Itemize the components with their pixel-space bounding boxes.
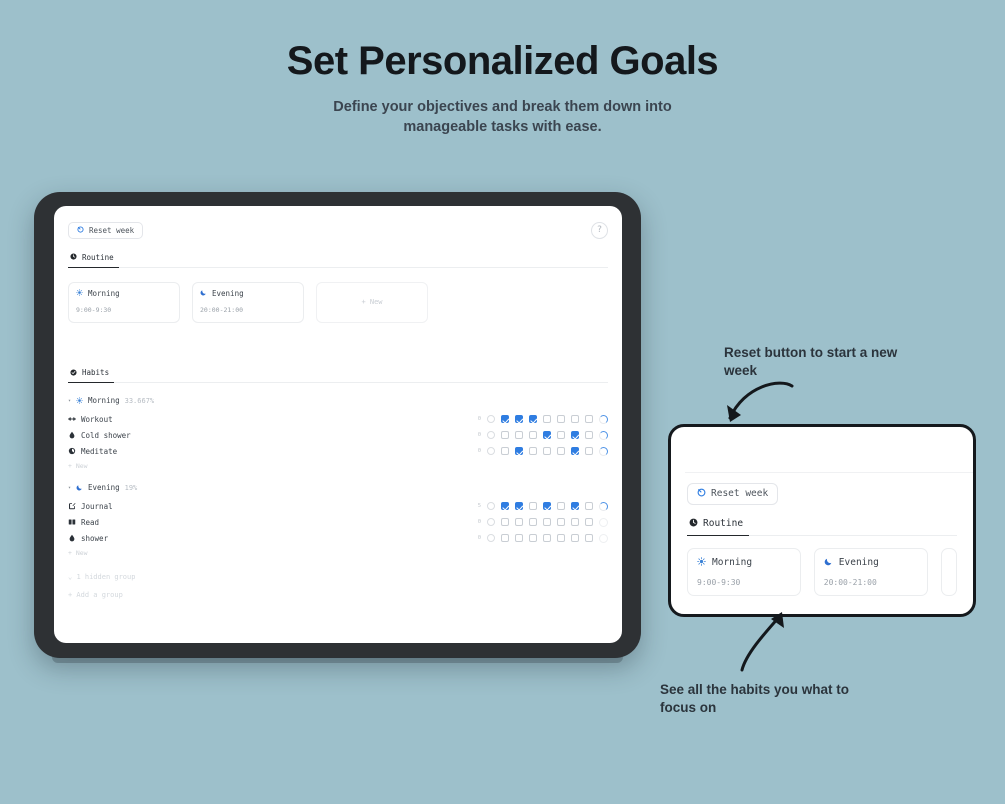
day-checkbox[interactable] bbox=[515, 431, 523, 439]
app-screen: ? Reset week bbox=[54, 206, 622, 643]
habit-progress-ring bbox=[599, 518, 608, 527]
add-habit-evening[interactable]: + New bbox=[68, 549, 608, 557]
day-checkbox[interactable] bbox=[515, 534, 523, 542]
callout-routine-card-morning[interactable]: Morning 9:00-9:30 bbox=[687, 548, 801, 596]
reset-circle-icon bbox=[77, 226, 84, 235]
moon-icon bbox=[76, 484, 83, 493]
sun-icon bbox=[76, 289, 83, 298]
habit-count: 0 bbox=[476, 535, 481, 541]
day-checkbox[interactable] bbox=[557, 518, 565, 526]
habit-name: Read bbox=[81, 518, 99, 527]
habit-week-grid: 0 bbox=[476, 447, 608, 456]
day-checkbox[interactable] bbox=[585, 415, 593, 423]
day-checkbox[interactable] bbox=[557, 415, 565, 423]
day-checkbox[interactable] bbox=[515, 447, 523, 455]
table-row[interactable]: Read 0 bbox=[68, 514, 608, 530]
table-row[interactable]: Workout 0 bbox=[68, 411, 608, 427]
habit-group-evening-percent: 19% bbox=[125, 484, 138, 492]
add-routine-card[interactable]: + New bbox=[316, 282, 428, 323]
habit-target-circle[interactable] bbox=[487, 518, 495, 526]
day-checkbox[interactable] bbox=[585, 502, 593, 510]
chevron-down-icon[interactable]: ▾ bbox=[68, 485, 71, 491]
habit-target-circle[interactable] bbox=[487, 534, 495, 542]
day-checkbox[interactable] bbox=[585, 431, 593, 439]
callout-routine-card-partial[interactable] bbox=[941, 548, 957, 596]
day-checkbox[interactable] bbox=[529, 415, 537, 423]
callout-routine-cards: Morning 9:00-9:30 Evening 20:00-21:00 bbox=[687, 548, 957, 596]
day-checkbox[interactable] bbox=[529, 518, 537, 526]
day-checkbox[interactable] bbox=[571, 534, 579, 542]
habit-target-circle[interactable] bbox=[487, 431, 495, 439]
habit-group-morning-header[interactable]: ▾ Morning 33.667% bbox=[68, 396, 608, 405]
habit-count: 0 bbox=[476, 432, 481, 438]
moon-icon bbox=[200, 289, 207, 298]
habit-progress-ring bbox=[599, 447, 608, 456]
tab-routine-label: Routine bbox=[82, 253, 114, 262]
pencil-square-icon bbox=[68, 502, 76, 512]
annotation-reset: Reset button to start a new week bbox=[724, 344, 924, 380]
habit-count: 0 bbox=[476, 519, 481, 525]
habit-week-grid: 5 bbox=[476, 502, 608, 511]
callout-morning-time: 9:00-9:30 bbox=[697, 578, 791, 587]
moon-clock-icon bbox=[68, 447, 76, 457]
droplet-icon bbox=[68, 431, 76, 441]
habit-week-grid: 0 bbox=[476, 518, 608, 527]
habit-target-circle[interactable] bbox=[487, 502, 495, 510]
habit-group-evening-name: Evening bbox=[88, 483, 120, 492]
habit-progress-ring bbox=[599, 534, 608, 543]
hero-section: Set Personalized Goals Define your objec… bbox=[0, 0, 1005, 137]
callout-tab-routine[interactable]: Routine bbox=[687, 513, 749, 537]
arrow-to-habits-icon bbox=[730, 598, 810, 678]
day-checkbox[interactable] bbox=[501, 502, 509, 510]
habit-group-morning-percent: 33.667% bbox=[125, 397, 155, 405]
habit-name: Journal bbox=[81, 502, 113, 511]
day-checkbox[interactable] bbox=[529, 534, 537, 542]
day-checkbox[interactable] bbox=[571, 518, 579, 526]
day-checkbox[interactable] bbox=[571, 502, 579, 510]
tablet-screen: ? Reset week bbox=[54, 206, 622, 643]
habit-progress-ring bbox=[599, 502, 608, 511]
arrow-to-reset-icon bbox=[710, 378, 820, 453]
habit-target-circle[interactable] bbox=[487, 447, 495, 455]
add-habit-morning[interactable]: + New bbox=[68, 462, 608, 470]
day-checkbox[interactable] bbox=[585, 447, 593, 455]
routine-card-morning-time: 9:00-9:30 bbox=[76, 306, 172, 314]
clock-icon bbox=[689, 518, 698, 530]
habit-count: 5 bbox=[476, 503, 481, 509]
callout-routine-card-evening[interactable]: Evening 20:00-21:00 bbox=[814, 548, 928, 596]
tablet-device: ? Reset week bbox=[34, 192, 641, 658]
habit-week-grid: 0 bbox=[476, 431, 608, 440]
day-checkbox[interactable] bbox=[557, 534, 565, 542]
day-checkbox[interactable] bbox=[515, 415, 523, 423]
droplet-icon bbox=[68, 534, 76, 544]
table-row[interactable]: Cold shower 0 bbox=[68, 427, 608, 443]
habit-count: 0 bbox=[476, 416, 481, 422]
tab-routine[interactable]: Routine bbox=[68, 249, 119, 268]
day-checkbox[interactable] bbox=[501, 447, 509, 455]
hidden-group-label: 1 hidden group bbox=[76, 573, 135, 581]
routine-card-evening-time: 20:00-21:00 bbox=[200, 306, 296, 314]
dumbbell-icon bbox=[68, 415, 76, 425]
habit-progress-ring bbox=[599, 431, 608, 440]
habit-count: 0 bbox=[476, 448, 481, 454]
divider bbox=[685, 472, 973, 473]
day-checkbox[interactable] bbox=[501, 534, 509, 542]
day-checkbox[interactable] bbox=[501, 415, 509, 423]
day-checkbox[interactable] bbox=[543, 447, 551, 455]
day-checkbox[interactable] bbox=[529, 447, 537, 455]
day-checkbox[interactable] bbox=[529, 502, 537, 510]
habit-week-grid: 0 bbox=[476, 534, 608, 543]
day-checkbox[interactable] bbox=[515, 502, 523, 510]
day-checkbox[interactable] bbox=[571, 447, 579, 455]
habits-tab-row: Habits bbox=[68, 361, 608, 384]
callout-routine-tab-row: Routine bbox=[687, 512, 957, 537]
habit-name: shower bbox=[81, 534, 108, 543]
habit-target-circle[interactable] bbox=[487, 415, 495, 423]
day-checkbox[interactable] bbox=[585, 534, 593, 542]
day-checkbox[interactable] bbox=[571, 415, 579, 423]
chevron-down-icon: ⌄ bbox=[68, 573, 72, 581]
tab-habits-label: Habits bbox=[82, 368, 109, 377]
page-title: Set Personalized Goals bbox=[0, 38, 1005, 84]
tab-habits[interactable]: Habits bbox=[68, 364, 114, 383]
day-checkbox[interactable] bbox=[515, 518, 523, 526]
routine-cards: Morning 9:00-9:30 Evening 20:00-21:00 bbox=[68, 282, 608, 323]
habit-group-evening-header[interactable]: ▾ Evening 19% bbox=[68, 483, 608, 492]
habit-list-morning: Workout 0 bbox=[68, 411, 608, 470]
callout-evening-title: Evening bbox=[839, 557, 879, 568]
habit-name: Workout bbox=[81, 415, 113, 424]
routine-card-morning-title: Morning bbox=[88, 289, 120, 298]
callout-morning-title: Morning bbox=[712, 557, 752, 568]
reset-circle-icon bbox=[697, 488, 706, 500]
moon-icon bbox=[824, 557, 833, 569]
habit-list-evening: Journal 5 bbox=[68, 498, 608, 557]
day-checkbox[interactable] bbox=[557, 447, 565, 455]
callout-reset-week-label: Reset week bbox=[711, 488, 768, 499]
day-checkbox[interactable] bbox=[501, 518, 509, 526]
day-checkbox[interactable] bbox=[529, 431, 537, 439]
reset-week-button[interactable]: Reset week bbox=[68, 222, 143, 239]
chevron-down-icon[interactable]: ▾ bbox=[68, 398, 71, 404]
day-checkbox[interactable] bbox=[543, 431, 551, 439]
day-checkbox[interactable] bbox=[543, 415, 551, 423]
sun-icon bbox=[697, 557, 706, 569]
habit-name: Cold shower bbox=[81, 431, 131, 440]
table-row[interactable]: shower 0 bbox=[68, 530, 608, 546]
callout-reset-week-button[interactable]: Reset week bbox=[687, 483, 778, 505]
hidden-group-toggle[interactable]: ⌄ 1 hidden group bbox=[68, 573, 608, 581]
book-icon bbox=[68, 518, 76, 528]
help-button[interactable]: ? bbox=[591, 222, 608, 239]
day-checkbox[interactable] bbox=[543, 518, 551, 526]
table-row[interactable]: Meditate 0 bbox=[68, 443, 608, 459]
day-checkbox[interactable] bbox=[557, 502, 565, 510]
day-checkbox[interactable] bbox=[543, 502, 551, 510]
day-checkbox[interactable] bbox=[501, 431, 509, 439]
habit-group-morning-name: Morning bbox=[88, 396, 120, 405]
table-row[interactable]: Journal 5 bbox=[68, 498, 608, 514]
clock-icon bbox=[70, 253, 77, 262]
habit-name: Meditate bbox=[81, 447, 117, 456]
day-checkbox[interactable] bbox=[585, 518, 593, 526]
sun-icon bbox=[76, 397, 83, 406]
check-circle-icon bbox=[70, 369, 77, 378]
callout-tab-routine-label: Routine bbox=[703, 518, 743, 529]
routine-card-evening-title: Evening bbox=[212, 289, 244, 298]
day-checkbox[interactable] bbox=[571, 431, 579, 439]
habit-week-grid: 0 bbox=[476, 415, 608, 424]
routine-card-morning[interactable]: Morning 9:00-9:30 bbox=[68, 282, 180, 323]
day-checkbox[interactable] bbox=[557, 431, 565, 439]
page-subtitle: Define your objectives and break them do… bbox=[303, 98, 703, 137]
routine-tab-row: Routine bbox=[68, 245, 608, 268]
reset-week-label: Reset week bbox=[89, 226, 134, 235]
habit-progress-ring bbox=[599, 415, 608, 424]
day-checkbox[interactable] bbox=[543, 534, 551, 542]
callout-evening-time: 20:00-21:00 bbox=[824, 578, 918, 587]
add-group-button[interactable]: + Add a group bbox=[68, 591, 608, 599]
annotation-habits: See all the habits you what to focus on bbox=[660, 681, 870, 717]
routine-card-evening[interactable]: Evening 20:00-21:00 bbox=[192, 282, 304, 323]
